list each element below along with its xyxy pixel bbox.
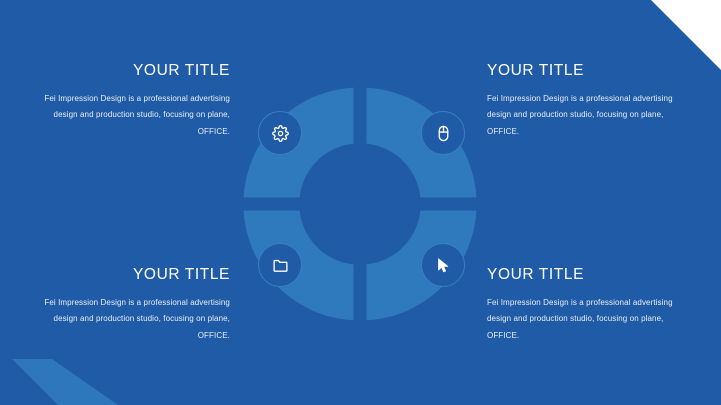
icon-bubble-bottom-right[interactable]	[421, 243, 465, 287]
block-title: YOUR TITLE	[487, 266, 695, 284]
icon-bubble-top-right[interactable]	[421, 111, 465, 155]
top-right-corner-triangle	[629, 0, 721, 70]
mouse-icon	[435, 125, 452, 142]
cursor-arrow-icon	[435, 257, 452, 274]
block-title: YOUR TITLE	[22, 266, 230, 284]
block-body: Fei Impression Design is a professional …	[22, 91, 230, 140]
block-title: YOUR TITLE	[487, 62, 695, 80]
slide-canvas: YOUR TITLE Fei Impression Design is a pr…	[0, 0, 721, 405]
gear-icon	[272, 125, 289, 142]
text-block-bottom-right: YOUR TITLE Fei Impression Design is a pr…	[487, 266, 695, 344]
block-body: Fei Impression Design is a professional …	[487, 295, 695, 344]
bottom-left-corner-parallelogram	[0, 359, 118, 405]
icon-bubble-bottom-left[interactable]	[258, 243, 302, 287]
folder-icon	[272, 257, 289, 274]
block-body: Fei Impression Design is a professional …	[487, 91, 695, 140]
block-title: YOUR TITLE	[22, 62, 230, 80]
text-block-bottom-left: YOUR TITLE Fei Impression Design is a pr…	[22, 266, 230, 344]
text-block-top-left: YOUR TITLE Fei Impression Design is a pr…	[22, 62, 230, 140]
block-body: Fei Impression Design is a professional …	[22, 295, 230, 344]
text-block-top-right: YOUR TITLE Fei Impression Design is a pr…	[487, 62, 695, 140]
icon-bubble-top-left[interactable]	[258, 111, 302, 155]
